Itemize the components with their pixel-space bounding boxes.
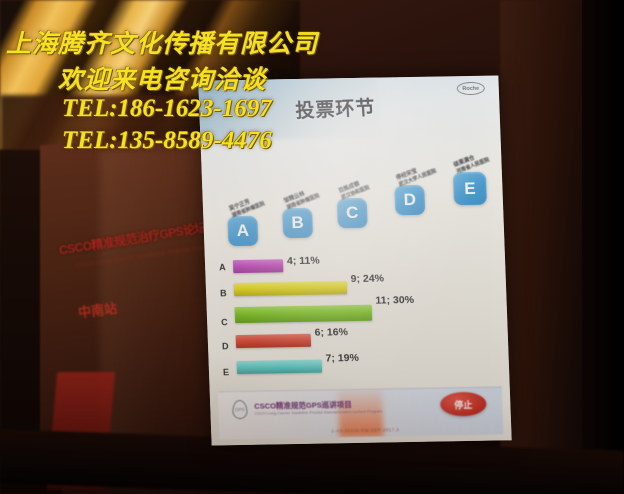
stop-button[interactable]: 停止 — [440, 392, 487, 417]
chart-label-e: 7; 19% — [325, 352, 359, 365]
gps-pin-icon: GPS — [232, 400, 248, 419]
chart-bar-d — [236, 334, 311, 348]
chart-label-c: 11; 30% — [375, 294, 414, 307]
chart-category-c: C — [221, 317, 228, 327]
candidate-box-a[interactable]: A — [227, 216, 258, 247]
candidate-box-b[interactable]: B — [282, 208, 313, 239]
candidate-letter-a: A — [236, 221, 249, 241]
watermark-tel-1: TEL:186-1623-1697 — [62, 95, 272, 123]
screenshot-root: CSCO精准规范治疗GPS论坛 CSCO Lung Cancer Guideli… — [0, 0, 624, 494]
vote-bar-chart: A 4; 11% B 9; 24% C 11; 30% D 6; 16% E 7… — [219, 254, 502, 394]
chart-category-e: E — [223, 367, 229, 377]
candidate-letter-c: C — [346, 203, 359, 223]
candidate-letter-e: E — [464, 178, 476, 198]
chart-category-b: B — [220, 288, 227, 298]
watermark-welcome: 欢迎来电咨询洽谈 — [58, 60, 266, 96]
sponsor-footer: GPS CSCO精准规范GPS巡讲项目 CSCO Lung Cancer Gui… — [218, 386, 504, 439]
chart-bar-e — [237, 360, 322, 374]
watermark-tel-2: TEL:135-8589-4476 — [62, 127, 272, 155]
candidate-box-d[interactable]: D — [394, 185, 425, 216]
chart-category-a: A — [219, 262, 226, 272]
candidate-box-e[interactable]: E — [453, 172, 487, 206]
chart-bar-c — [235, 305, 373, 323]
candidate-letter-d: D — [403, 190, 416, 210]
chart-category-d: D — [222, 341, 229, 351]
slide-title: 投票环节 — [295, 93, 377, 123]
chart-label-a: 4; 11% — [287, 255, 320, 268]
roche-logo-icon: Roche — [457, 82, 485, 95]
chart-label-d: 6; 16% — [314, 326, 348, 339]
candidate-box-c[interactable]: C — [337, 198, 368, 229]
sponsor-approval-code: 1-AS-20132-RM-SEP-2017.3 — [331, 427, 399, 433]
chart-bar-a — [233, 259, 283, 273]
chart-label-b: 9; 24% — [350, 272, 384, 285]
chart-bar-b — [234, 281, 347, 296]
right-wall-shadow — [582, 0, 624, 494]
candidate-letter-b: B — [291, 213, 304, 233]
watermark-company: 上海腾齐文化传播有限公司 — [6, 24, 318, 60]
